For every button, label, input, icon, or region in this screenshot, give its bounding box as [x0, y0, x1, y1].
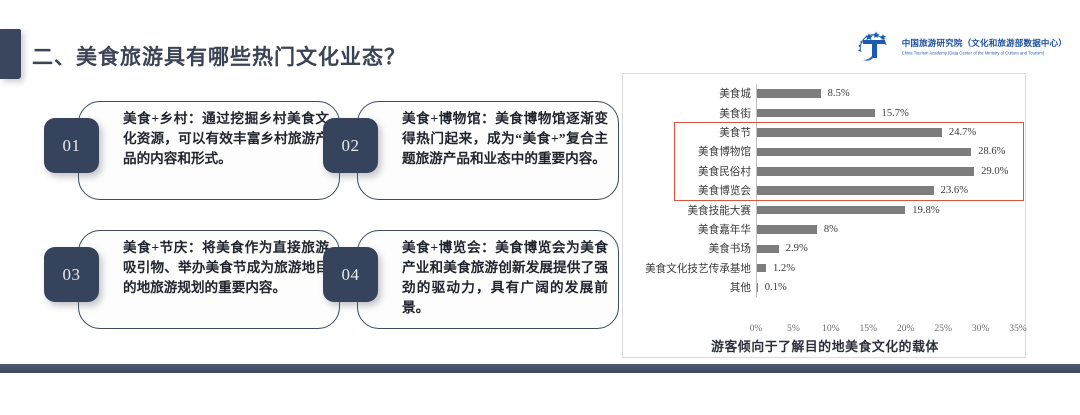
card-body: 美食+博物馆：美食博物馆逐渐变得热门起来，成为“美食+”复合主题旅游产品和业态中…: [357, 101, 619, 200]
chart-x-tick-label: 15%: [859, 323, 877, 334]
chart-bar: [757, 225, 817, 234]
chart-bar: [757, 109, 875, 118]
card-text: 美食+博览会：美食博览会为美食产业和美食旅游创新发展提供了强劲的驱动力，具有广阔…: [358, 231, 618, 325]
chart-bar-row: 美食城8.5%: [623, 84, 1027, 103]
chart-bar-row: 美食嘉年华8%: [623, 220, 1027, 239]
chart-bar: [757, 245, 779, 254]
chart-bar: [757, 89, 821, 98]
chart-bar-track: 0.1%: [756, 278, 1027, 297]
chart-value-label: 2.9%: [786, 243, 808, 254]
brand-text: 中国旅游研究院（文化和旅游部数据中心） China Tourism Academ…: [902, 39, 1067, 55]
card-number-badge: 01: [44, 118, 99, 173]
chart-category-label: 美食街: [623, 106, 756, 121]
chart-x-tick-label: 5%: [787, 323, 800, 334]
chart-bar: [757, 148, 971, 157]
chart-panel: 美食城8.5%美食街15.7%美食节24.7%美食博物馆28.6%美食民俗村29…: [622, 73, 1026, 358]
chart-bar-track: 23.6%: [756, 181, 1027, 200]
chart-x-tick-label: 25%: [934, 323, 952, 334]
chart-category-label: 美食博物馆: [623, 144, 756, 159]
chart-bar-row: 美食节24.7%: [623, 123, 1027, 142]
card-body: 美食+博览会：美食博览会为美食产业和美食旅游创新发展提供了强劲的驱动力，具有广阔…: [357, 230, 619, 329]
chart-x-axis: 0%5%10%15%20%25%30%35%: [756, 323, 1018, 337]
chart-x-tick-label: 30%: [972, 323, 990, 334]
chart-bar-track: 28.6%: [756, 142, 1027, 161]
card-text: 美食+乡村：通过挖掘乡村美食文化资源，可以有效丰富乡村旅游产品的内容和形式。: [79, 102, 339, 176]
chart-value-label: 1.2%: [773, 263, 795, 274]
chart-value-label: 8%: [824, 224, 838, 235]
chart-category-label: 美食嘉年华: [623, 222, 756, 237]
chart-category-label: 美食民俗村: [623, 164, 756, 179]
chart-value-label: 28.6%: [978, 146, 1005, 157]
chart-bar: [757, 186, 934, 195]
chart-value-label: 8.5%: [828, 88, 850, 99]
chart-x-tick-label: 0%: [750, 323, 763, 334]
chart-bar-track: 24.7%: [756, 123, 1027, 142]
chart-x-tick-label: 10%: [822, 323, 840, 334]
chart-category-label: 美食博览会: [623, 183, 756, 198]
chart-bar-row: 美食博物馆28.6%: [623, 142, 1027, 161]
chart-bar: [757, 283, 758, 292]
chart-bar-track: 1.2%: [756, 259, 1027, 278]
chart-value-label: 0.1%: [765, 282, 787, 293]
chart-value-label: 24.7%: [949, 127, 976, 138]
chart-bar-track: 19.8%: [756, 200, 1027, 219]
chart-bar-row: 美食技能大赛19.8%: [623, 200, 1027, 219]
title-accent-block: [0, 29, 21, 79]
chart-value-label: 29.0%: [981, 166, 1008, 177]
card-body: 美食+乡村：通过挖掘乡村美食文化资源，可以有效丰富乡村旅游产品的内容和形式。: [78, 101, 340, 200]
chart-bar-row: 美食博览会23.6%: [623, 181, 1027, 200]
chart-bar: [757, 206, 905, 215]
chart-value-label: 23.6%: [941, 185, 968, 196]
chart-bar-track: 29.0%: [756, 162, 1027, 181]
chart-bar-track: 15.7%: [756, 103, 1027, 122]
card-number-badge: 04: [323, 247, 378, 302]
card-text: 美食+节庆：将美食作为直接旅游吸引物、举办美食节成为旅游地目的地旅游规划的重要内…: [79, 231, 339, 305]
chart-category-label: 其他: [623, 280, 756, 295]
china-tourism-academy-logo-icon: [855, 30, 895, 64]
chart-bar-track: 2.9%: [756, 239, 1027, 258]
chart-value-label: 15.7%: [882, 108, 909, 119]
chart-bar: [757, 128, 942, 137]
chart-bar: [757, 167, 974, 176]
chart-bar: [757, 264, 766, 273]
chart-value-label: 19.8%: [912, 205, 939, 216]
chart-category-label: 美食节: [623, 125, 756, 140]
chart-plot-area: 美食城8.5%美食街15.7%美食节24.7%美食博物馆28.6%美食民俗村29…: [623, 84, 1027, 316]
card-text: 美食+博物馆：美食博物馆逐渐变得热门起来，成为“美食+”复合主题旅游产品和业态中…: [358, 102, 618, 176]
chart-bar-row: 美食街15.7%: [623, 103, 1027, 122]
chart-category-label: 美食城: [623, 86, 756, 101]
brand-logo: 中国旅游研究院（文化和旅游部数据中心） China Tourism Academ…: [855, 30, 1067, 64]
brand-name-cn: 中国旅游研究院（文化和旅游部数据中心）: [902, 39, 1067, 49]
brand-name-en: China Tourism Academy (Data Center of th…: [902, 51, 1067, 56]
chart-x-tick-label: 20%: [897, 323, 915, 334]
page-title: 二、美食旅游具有哪些热门文化业态？: [32, 41, 406, 71]
card-number-badge: 02: [323, 118, 378, 173]
chart-category-label: 美食文化技艺传承基地: [623, 261, 756, 276]
card-number-badge: 03: [44, 247, 99, 302]
chart-bar-row: 美食书场2.9%: [623, 239, 1027, 258]
footer-bar: [0, 364, 1080, 373]
chart-category-label: 美食技能大赛: [623, 203, 756, 218]
chart-caption: 游客倾向于了解目的地美食文化的载体: [623, 336, 1027, 355]
chart-bar-row: 美食文化技艺传承基地1.2%: [623, 259, 1027, 278]
chart-bar-track: 8.5%: [756, 84, 1027, 103]
chart-bar-track: 8%: [756, 220, 1027, 239]
card-body: 美食+节庆：将美食作为直接旅游吸引物、举办美食节成为旅游地目的地旅游规划的重要内…: [78, 230, 340, 329]
chart-x-tick-label: 35%: [1009, 323, 1027, 334]
chart-bar-row: 美食民俗村29.0%: [623, 162, 1027, 181]
chart-bar-row: 其他0.1%: [623, 278, 1027, 297]
chart-category-label: 美食书场: [623, 241, 756, 256]
